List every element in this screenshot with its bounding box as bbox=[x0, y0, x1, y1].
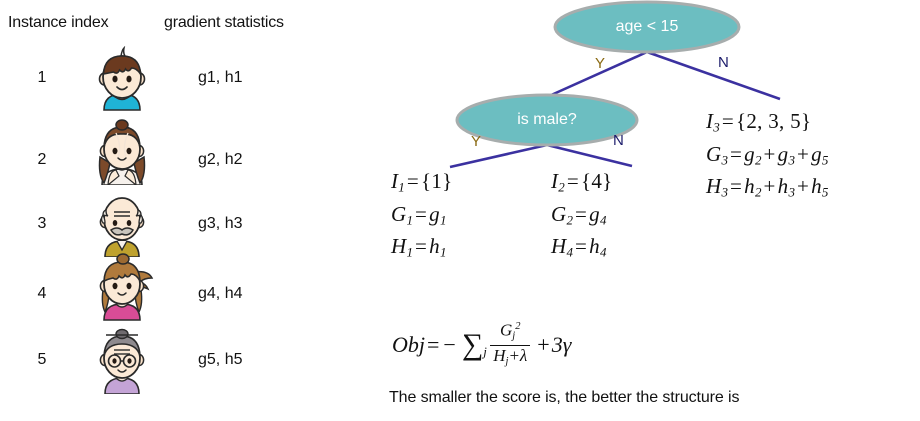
tree-node-root-label[interactable]: age < 15 bbox=[555, 18, 739, 36]
objective-numerator: Gj2 bbox=[497, 318, 523, 345]
leaf-1-line-1: I1={1} bbox=[391, 168, 453, 201]
objective-denominator: Hj+λ bbox=[490, 345, 530, 371]
edge-label-child-no: N bbox=[613, 132, 624, 149]
edge-label-child-yes: Y bbox=[471, 133, 481, 150]
obj-minus: − bbox=[441, 332, 457, 358]
leaf-3-line-1: I3={2, 3, 5} bbox=[706, 108, 828, 141]
obj-lhs: Obj bbox=[392, 332, 425, 358]
edge-root-no bbox=[647, 52, 780, 99]
leaf-2-line-3: H4=h4 bbox=[551, 233, 613, 266]
leaf-3-line-3: H3=h2+h3+h5 bbox=[706, 173, 828, 206]
objective-fraction: Gj2 Hj+λ bbox=[490, 318, 530, 371]
leaf-1-line-2: G1=g1 bbox=[391, 201, 453, 234]
leaf-3-line-2: G3=g2+g3+g5 bbox=[706, 141, 828, 174]
leaf-2-statistics: I2={4} G2=g4 H4=h4 bbox=[551, 168, 613, 266]
leaf-1-line-3: H1=h1 bbox=[391, 233, 453, 266]
tree-node-is-male-label[interactable]: is male? bbox=[457, 111, 637, 129]
leaf-3-statistics: I3={2, 3, 5} G3=g2+g3+g5 H3=h2+h3+h5 bbox=[706, 108, 828, 206]
leaf-2-line-1: I2={4} bbox=[551, 168, 613, 201]
summation-symbol: ∑ j bbox=[462, 332, 483, 358]
leaf-2-line-2: G2=g4 bbox=[551, 201, 613, 234]
objective-formula: Obj = − ∑ j Gj2 Hj+λ + 3γ bbox=[392, 318, 571, 371]
leaf-1-statistics: I1={1} G1=g1 H1=h1 bbox=[391, 168, 453, 266]
edge-label-root-no: N bbox=[718, 54, 729, 71]
caption-text: The smaller the score is, the better the… bbox=[389, 389, 739, 407]
obj-equals: = bbox=[425, 332, 441, 358]
edge-label-root-yes: Y bbox=[595, 55, 605, 72]
obj-tail: 3γ bbox=[552, 332, 572, 358]
edge-child-yes bbox=[450, 145, 547, 167]
slide-canvas: Instance index gradient statistics 1 g1,… bbox=[0, 0, 920, 421]
obj-plus: + bbox=[535, 332, 551, 358]
